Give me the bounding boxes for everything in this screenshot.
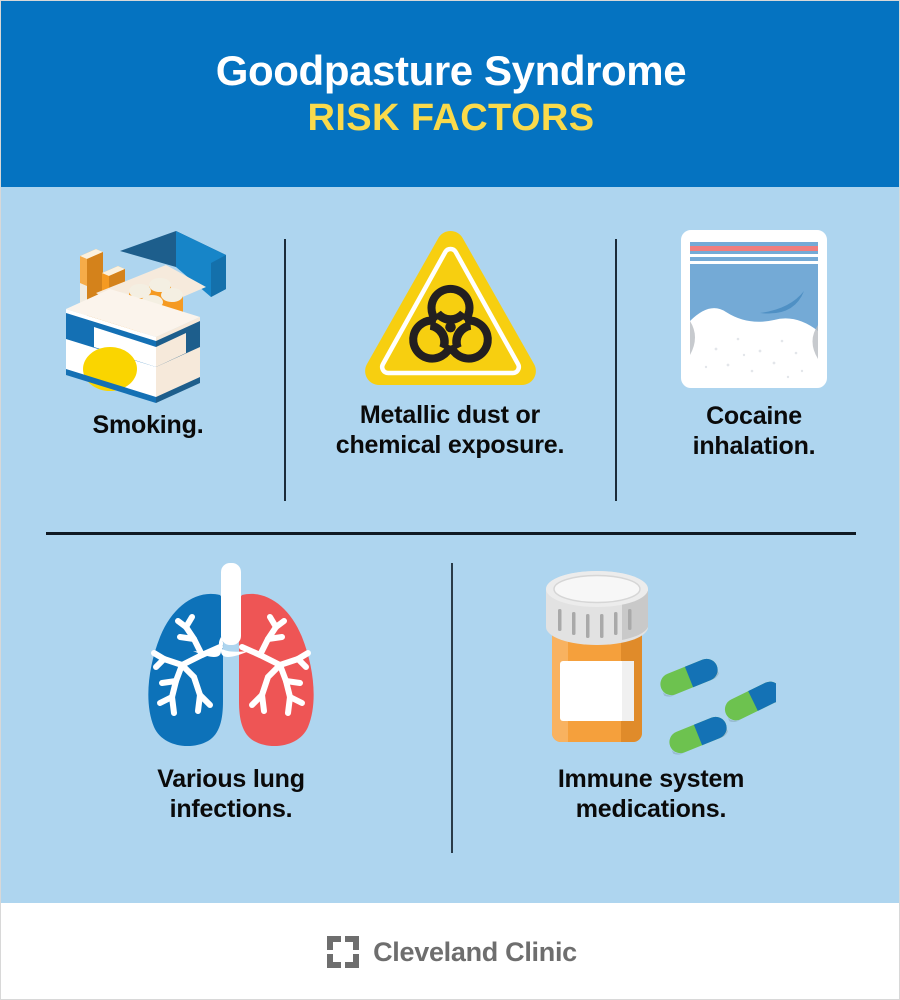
risk-factor-caption: Immune system medications. [558, 765, 744, 824]
risk-factor-caption: Metallic dust or chemical exposure. [336, 401, 564, 460]
risk-factor-lung-infections: Various lung infections. [71, 555, 391, 824]
divider-vertical-bottom [451, 563, 453, 853]
lungs-art [116, 555, 346, 765]
divider-vertical-top-left [284, 239, 286, 501]
divider-horizontal [46, 532, 856, 535]
page-subtitle: RISK FACTORS [307, 97, 594, 140]
risk-factor-caption: Cocaine inhalation. [693, 402, 816, 461]
risk-factor-cocaine: Cocaine inhalation. [629, 221, 879, 461]
infographic-root: Goodpasture Syndrome RISK FACTORS [0, 0, 900, 1000]
risk-factor-immune-medications: Immune system medications. [471, 555, 831, 824]
risk-factor-smoking: Smoking. [23, 221, 273, 441]
pill-bottle-art [526, 555, 776, 765]
brand-name: Cleveland Clinic [373, 937, 577, 968]
powder-baggie-icon [664, 221, 844, 397]
footer-bar: Cleveland Clinic [1, 903, 900, 1000]
cigarette-pack-art [48, 221, 248, 411]
biohazard-warning-art [358, 221, 543, 401]
cleveland-clinic-logo: Cleveland Clinic [325, 934, 577, 970]
cigarette-pack-icon [48, 221, 248, 406]
risk-factor-board: Smoking. [1, 187, 900, 903]
page-title: Goodpasture Syndrome [216, 48, 686, 93]
risk-factor-caption: Smoking. [93, 411, 204, 441]
pill-bottle-icon [526, 555, 776, 760]
biohazard-warning-icon [358, 221, 543, 396]
risk-factor-caption: Various lung infections. [157, 765, 305, 824]
risk-factor-metallic-dust: Metallic dust or chemical exposure. [296, 221, 604, 460]
divider-vertical-top-right [615, 239, 617, 501]
cleveland-clinic-logo-icon [325, 934, 361, 970]
powder-baggie-art [664, 221, 844, 402]
header-banner: Goodpasture Syndrome RISK FACTORS [1, 1, 900, 187]
lungs-icon [116, 555, 346, 760]
